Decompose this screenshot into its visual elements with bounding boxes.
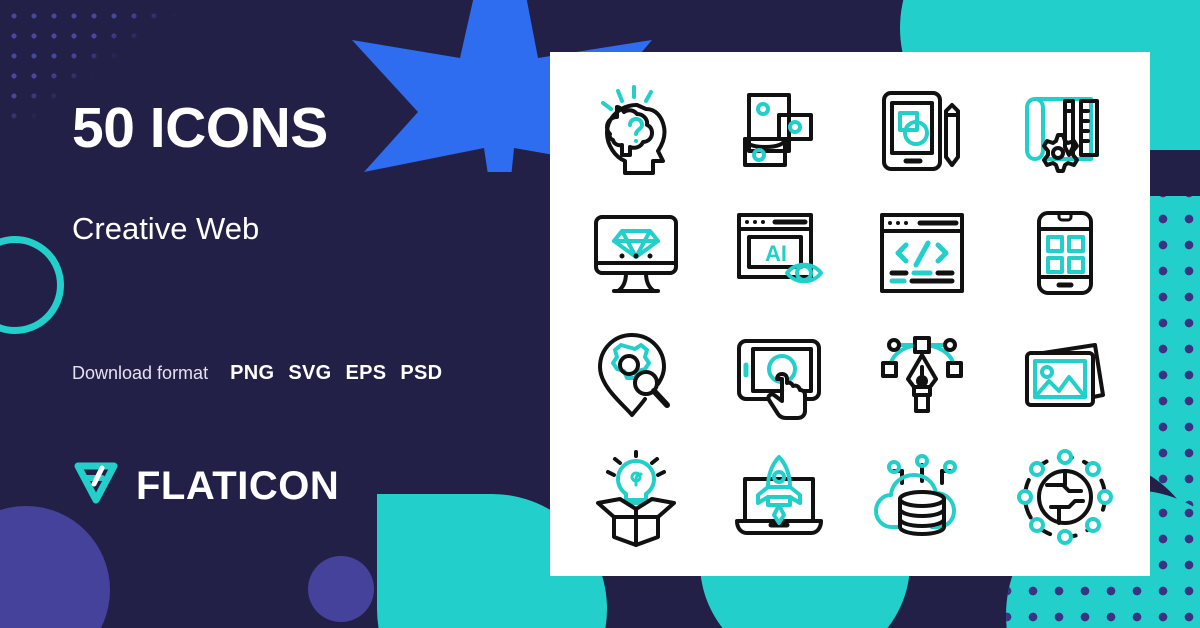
branding-devices-icon — [727, 79, 831, 183]
icon-cell-tablet-pen-shapes[interactable] — [850, 70, 993, 192]
tablet-pen-shapes-icon — [870, 79, 974, 183]
monitor-diamond-icon — [584, 201, 688, 305]
laptop-rocket-icon — [727, 445, 831, 549]
icon-cell-smartphone-apps[interactable] — [993, 192, 1136, 314]
icon-cell-pen-tool-nodes[interactable] — [850, 314, 993, 436]
teal-ring-left — [0, 236, 64, 334]
pen-tool-nodes-icon — [870, 323, 974, 427]
icon-cell-monitor-diamond[interactable] — [564, 192, 707, 314]
format-png[interactable]: PNG — [230, 362, 274, 385]
download-format-label: Download format — [72, 363, 208, 384]
brand-lockup[interactable]: FLATICON — [72, 462, 339, 511]
icon-cell-box-idea-bulb[interactable] — [564, 436, 707, 558]
download-format-row: Download format PNG SVG EPS PSD — [72, 362, 442, 385]
page-title: 50 ICONS — [72, 100, 328, 157]
icon-cell-blueprint-tools[interactable] — [993, 70, 1136, 192]
global-network-icon — [1013, 445, 1117, 549]
icon-cell-laptop-rocket[interactable] — [707, 436, 850, 558]
icon-cell-image-gallery[interactable] — [993, 314, 1136, 436]
icon-cell-cloud-database[interactable] — [850, 436, 993, 558]
browser-ai-eye-icon: AI — [727, 201, 831, 305]
download-format-list: PNG SVG EPS PSD — [230, 362, 442, 385]
flaticon-logo-icon — [72, 462, 120, 511]
cloud-database-icon — [870, 445, 974, 549]
flaticon-icon-pack-banner: 50 ICONS Creative Web Download format PN… — [0, 0, 1200, 628]
format-psd[interactable]: PSD — [400, 362, 442, 385]
icon-cell-tablet-touch-hand[interactable] — [707, 314, 850, 436]
image-gallery-icon — [1013, 323, 1117, 427]
icon-cell-global-network[interactable] — [993, 436, 1136, 558]
icon-preview-panel: AI — [550, 52, 1150, 576]
browser-code-icon — [870, 201, 974, 305]
icon-cell-head-brain-question[interactable] — [564, 70, 707, 192]
format-svg[interactable]: SVG — [288, 362, 331, 385]
icon-cell-location-gear-search[interactable] — [564, 314, 707, 436]
svg-text:AI: AI — [765, 241, 787, 266]
tablet-touch-hand-icon — [727, 323, 831, 427]
location-gear-search-icon — [584, 323, 688, 427]
brand-name: FLATICON — [136, 464, 339, 509]
format-eps[interactable]: EPS — [345, 362, 386, 385]
icon-cell-browser-ai-eye[interactable]: AI — [707, 192, 850, 314]
page-subtitle: Creative Web — [72, 213, 259, 244]
blueprint-tools-icon — [1013, 79, 1117, 183]
left-content-panel: 50 ICONS Creative Web Download format PN… — [72, 0, 542, 628]
icon-cell-branding-devices[interactable] — [707, 70, 850, 192]
head-brain-question-icon — [584, 79, 688, 183]
icon-grid: AI — [550, 52, 1150, 576]
smartphone-apps-icon — [1013, 201, 1117, 305]
icon-cell-browser-code[interactable] — [850, 192, 993, 314]
box-idea-bulb-icon — [584, 445, 688, 549]
